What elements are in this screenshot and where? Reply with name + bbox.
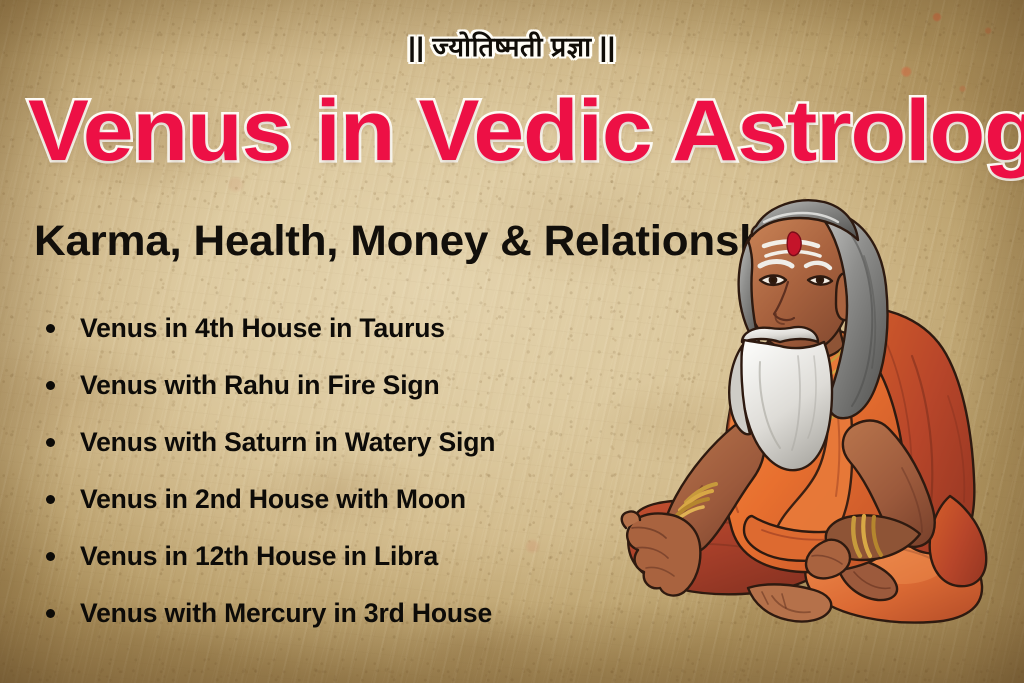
- topic-list: Venus in 4th House in Taurus Venus with …: [40, 300, 640, 642]
- poster-canvas: || ज्योतिष्मती प्रज्ञा || Venus in Vedic…: [0, 0, 1024, 683]
- page-title: Venus in Vedic Astrology: [28, 92, 1024, 171]
- list-item: Venus in 2nd House with Moon: [40, 471, 640, 528]
- list-item-label: Venus in 12th House in Libra: [80, 541, 438, 572]
- list-item-label: Venus with Saturn in Watery Sign: [80, 427, 495, 458]
- list-item-label: Venus with Rahu in Fire Sign: [80, 370, 439, 401]
- seated-sage-figure-icon: [602, 196, 1006, 648]
- bullet-dot-icon: [46, 438, 55, 447]
- list-item-label: Venus in 2nd House with Moon: [80, 484, 466, 515]
- list-item-label: Venus in 4th House in Taurus: [80, 313, 445, 344]
- sage-illustration: [602, 196, 1006, 648]
- bullet-dot-icon: [46, 609, 55, 618]
- bullet-dot-icon: [46, 552, 55, 561]
- list-item: Venus with Saturn in Watery Sign: [40, 414, 640, 471]
- bullet-dot-icon: [46, 381, 55, 390]
- list-item: Venus with Rahu in Fire Sign: [40, 357, 640, 414]
- list-item: Venus in 12th House in Libra: [40, 528, 640, 585]
- list-item: Venus with Mercury in 3rd House: [40, 585, 640, 642]
- bullet-dot-icon: [46, 495, 55, 504]
- sanskrit-tagline: || ज्योतिष्मती प्रज्ञा ||: [0, 34, 1024, 61]
- list-item: Venus in 4th House in Taurus: [40, 300, 640, 357]
- bullet-dot-icon: [46, 324, 55, 333]
- list-item-label: Venus with Mercury in 3rd House: [80, 598, 492, 629]
